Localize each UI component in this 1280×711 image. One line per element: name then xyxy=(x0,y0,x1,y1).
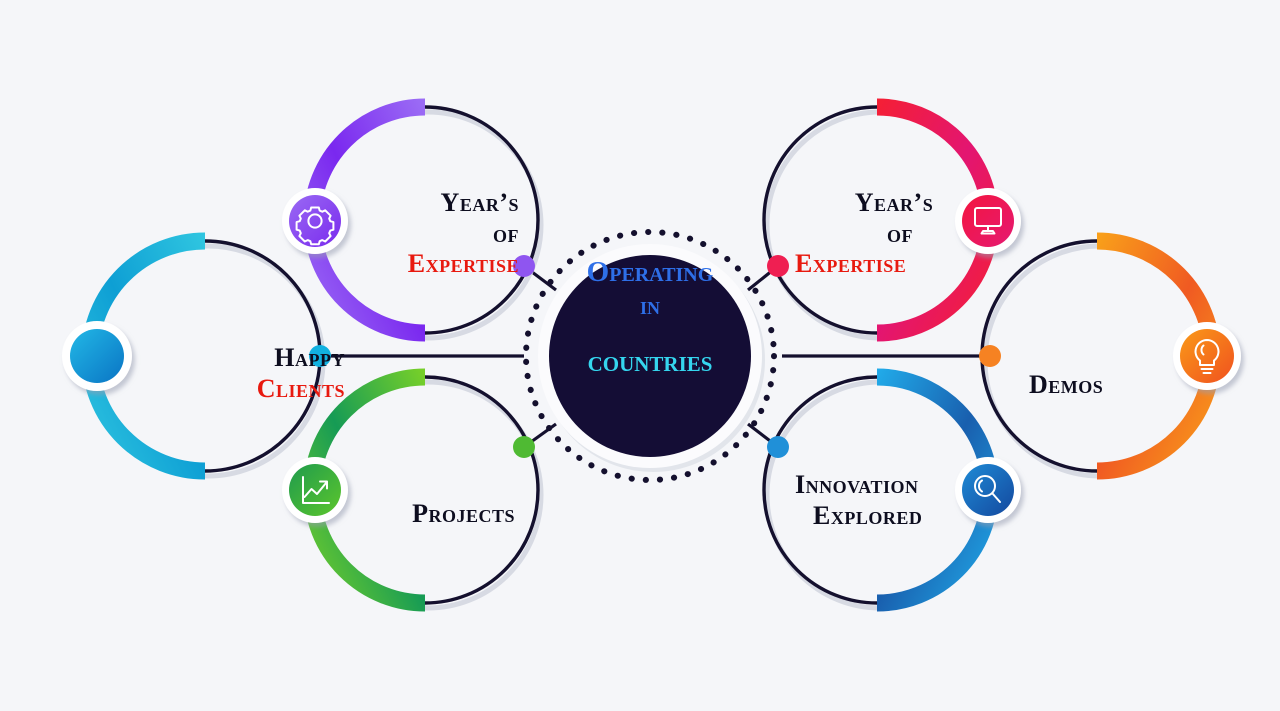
center-hub-disc xyxy=(549,255,751,457)
innovation-node-dot[interactable] xyxy=(767,436,789,458)
node-happy-clients[interactable] xyxy=(62,241,331,476)
innovation-badge[interactable] xyxy=(962,464,1014,516)
node-years-of-expertise-left[interactable] xyxy=(282,107,541,338)
projects-badge[interactable] xyxy=(289,464,341,516)
infographic-canvas: Operating in countries Happy Clients Yea… xyxy=(0,0,1280,711)
node-years-of-expertise-right[interactable] xyxy=(764,107,1021,338)
node-projects[interactable] xyxy=(282,377,541,608)
expertise-left-badge[interactable] xyxy=(289,195,341,247)
happy-clients-badge[interactable] xyxy=(70,329,124,383)
demos-node-dot[interactable] xyxy=(979,345,1001,367)
center-hub[interactable] xyxy=(526,232,774,480)
expertise-left-node-dot[interactable] xyxy=(513,255,535,277)
projects-node-dot[interactable] xyxy=(513,436,535,458)
node-demos[interactable] xyxy=(979,241,1241,476)
diagram-graphics xyxy=(0,0,1280,711)
happy-clients-node-dot[interactable] xyxy=(309,345,331,367)
expertise-right-node-dot[interactable] xyxy=(767,255,789,277)
node-innovation-explored[interactable] xyxy=(764,377,1021,608)
demos-badge[interactable] xyxy=(1180,329,1234,383)
expertise-right-badge[interactable] xyxy=(962,195,1014,247)
